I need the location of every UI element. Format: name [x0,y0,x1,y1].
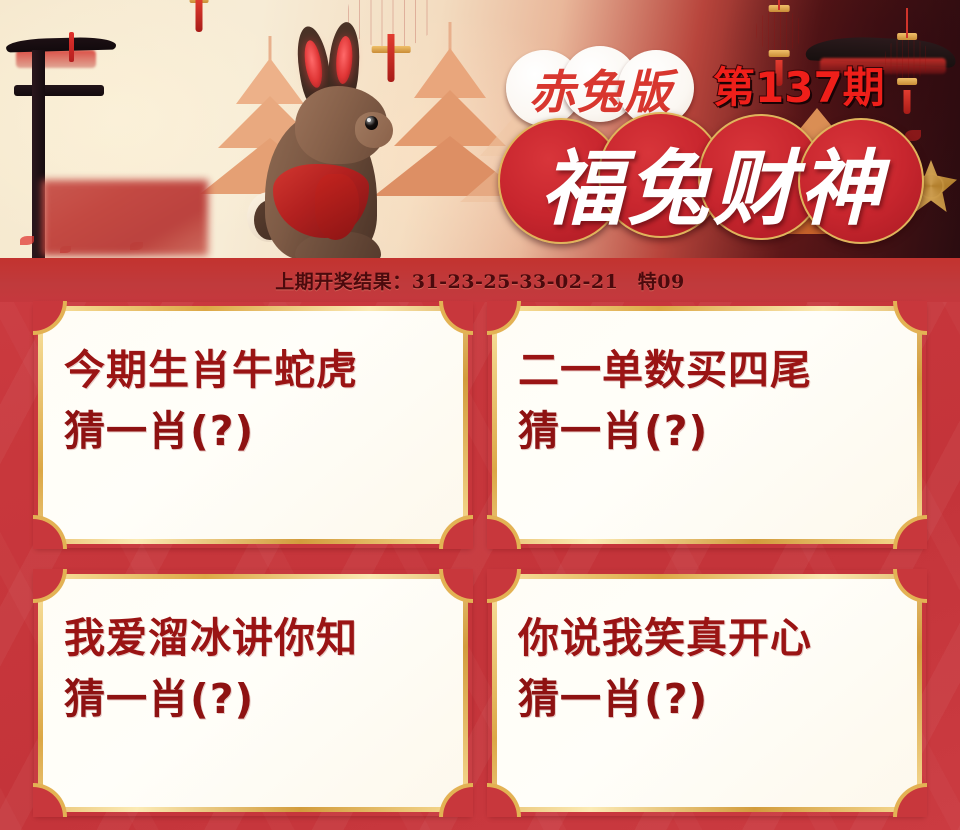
hero-banner: 赤兔版 第137期 福兔财神 [0,0,960,258]
issue-number-label: 第137期 [713,54,885,115]
riddle-line-1: 你说我笑真开心 [518,608,896,669]
riddle-card[interactable]: 二一单数买四尾 猜一肖(?) [488,302,926,548]
card-corner-notch [487,569,521,603]
card-corner-notch [487,301,521,335]
card-corner-notch [33,569,67,603]
card-corner-notch [893,569,927,603]
riddle-line-2: 猜一肖(?) [64,401,442,462]
petal-icon [20,236,34,245]
riddle-card-grid: 今期生肖牛蛇虎 猜一肖(?) 二一单数买四尾 猜一肖(?) 我爱溜冰讲你知 猜一… [0,302,960,830]
main-title-group: 福兔财神 [498,112,938,250]
rabbit-eye [365,116,378,130]
riddle-line-1: 二一单数买四尾 [518,340,896,401]
riddle-line-2: 猜一肖(?) [518,401,896,462]
card-corner-notch [893,515,927,549]
main-title-text: 福兔财神 [498,118,928,244]
riddle-card[interactable]: 你说我笑真开心 猜一肖(?) [488,570,926,816]
card-corner-notch [439,301,473,335]
riddle-line-2: 猜一肖(?) [518,669,896,730]
rabbit-illustration [243,24,413,258]
riddle-line-1: 今期生肖牛蛇虎 [64,340,442,401]
card-corner-notch [33,783,67,817]
title-lockup: 赤兔版 第137期 福兔财神 [498,40,938,250]
riddle-card[interactable]: 我爱溜冰讲你知 猜一肖(?) [34,570,472,816]
card-corner-notch [893,301,927,335]
card-corner-notch [33,301,67,335]
riddle-line-1: 我爱溜冰讲你知 [64,608,442,669]
card-corner-notch [33,515,67,549]
lottery-poster-page: 赤兔版 第137期 福兔财神 上期开奖结果：31-23-25-33-02-21 … [0,0,960,830]
previous-draw-result-band: 上期开奖结果：31-23-25-33-02-21 特09 [0,258,960,302]
card-corner-notch [439,783,473,817]
redacted-block [42,180,208,256]
card-corner-notch [439,515,473,549]
card-corner-notch [893,783,927,817]
card-corner-notch [487,515,521,549]
card-corner-notch [487,783,521,817]
previous-draw-result-text: 上期开奖结果：31-23-25-33-02-21 特09 [275,267,685,294]
riddle-line-2: 猜一肖(?) [64,669,442,730]
card-corner-notch [439,569,473,603]
riddle-card[interactable]: 今期生肖牛蛇虎 猜一肖(?) [34,302,472,548]
